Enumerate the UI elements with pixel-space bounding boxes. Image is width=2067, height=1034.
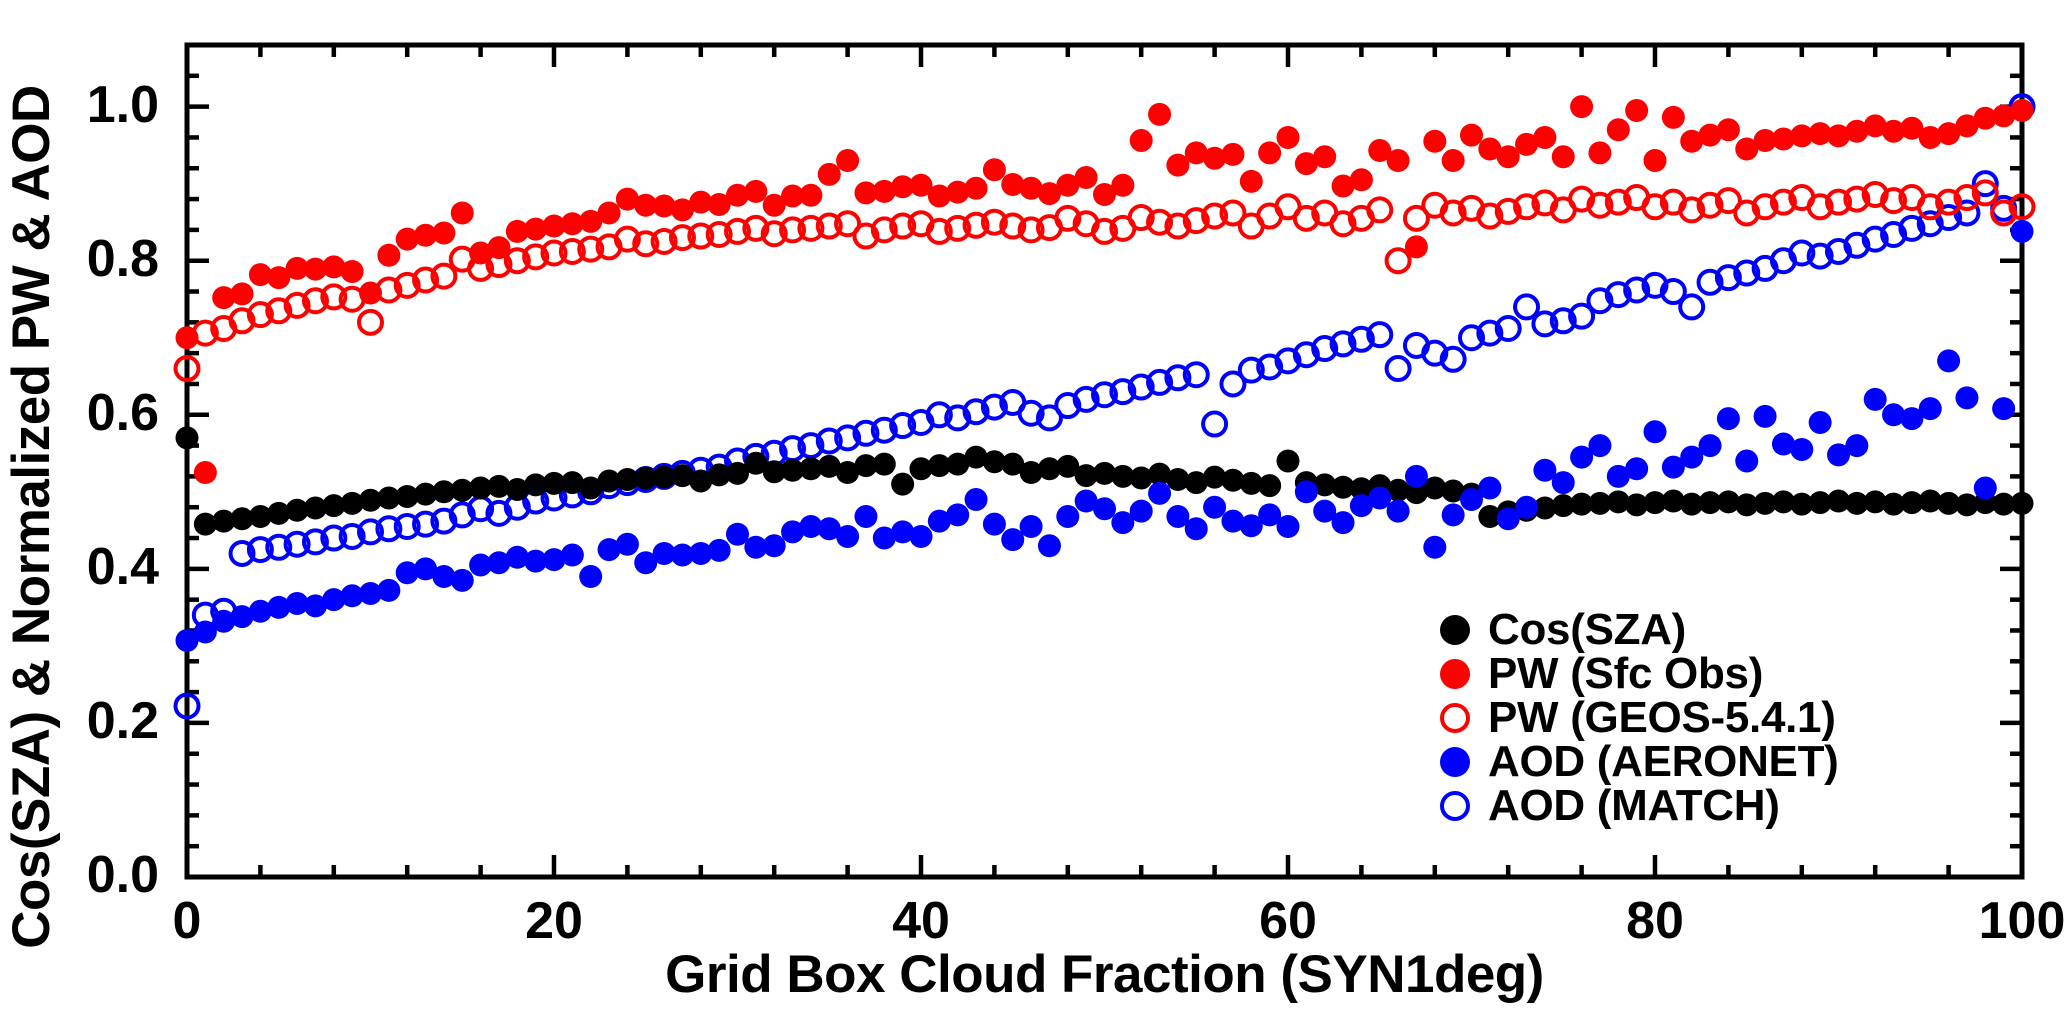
x-axis-tick-label: 20 xyxy=(525,891,583,951)
data-point xyxy=(1790,438,1813,461)
data-point xyxy=(1350,168,1373,191)
data-point xyxy=(1570,95,1593,118)
data-point xyxy=(965,177,988,200)
data-point xyxy=(1607,118,1630,141)
data-point xyxy=(1845,434,1868,457)
data-point xyxy=(1478,476,1501,499)
data-point xyxy=(744,180,767,203)
data-point xyxy=(1680,295,1703,318)
data-point xyxy=(1662,106,1685,129)
data-point xyxy=(598,201,621,224)
data-point xyxy=(799,184,822,207)
legend-label: PW (Sfc Obs) xyxy=(1488,652,1763,696)
data-point xyxy=(451,201,474,224)
data-point xyxy=(1203,496,1226,519)
data-point xyxy=(359,311,382,334)
data-point xyxy=(1185,517,1208,540)
data-point xyxy=(1699,434,1722,457)
data-point xyxy=(616,533,639,556)
y-axis-tick-label: 0.4 xyxy=(0,537,159,597)
data-point xyxy=(377,579,400,602)
data-point xyxy=(2011,99,2034,122)
data-point xyxy=(891,473,914,496)
data-point xyxy=(579,565,602,588)
data-point xyxy=(359,282,382,305)
data-point xyxy=(1992,397,2015,420)
y-axis-tick-label: 0.8 xyxy=(0,229,159,289)
data-point xyxy=(873,453,896,476)
y-axis-tick-label: 0.0 xyxy=(0,845,159,905)
data-point xyxy=(1588,141,1611,164)
open-circle-icon xyxy=(1432,788,1478,824)
legend-item: AOD (MATCH) xyxy=(1432,784,1839,828)
x-axis-tick-label: 100 xyxy=(1979,891,2066,951)
legend-item: PW (GEOS-5.4.1) xyxy=(1432,696,1839,740)
data-point xyxy=(1423,130,1446,153)
data-point xyxy=(1864,388,1887,411)
data-point xyxy=(1955,386,1978,409)
data-point xyxy=(1552,471,1575,494)
data-point xyxy=(763,534,786,557)
data-point xyxy=(1148,482,1171,505)
data-point xyxy=(854,505,877,528)
data-point xyxy=(1588,434,1611,457)
legend-item: PW (Sfc Obs) xyxy=(1432,652,1839,696)
y-axis-tick-label: 1.0 xyxy=(0,75,159,135)
data-point xyxy=(341,260,364,283)
data-point xyxy=(836,149,859,172)
data-point xyxy=(1515,295,1538,318)
data-point xyxy=(1717,118,1740,141)
data-point xyxy=(1625,99,1648,122)
data-point xyxy=(1405,235,1428,258)
data-point xyxy=(1111,174,1134,197)
data-point xyxy=(1130,500,1153,523)
figure-canvas: Cos(SZA) & Normalized PW & AOD Grid Box … xyxy=(0,0,2067,1034)
data-point xyxy=(1625,457,1648,480)
data-point xyxy=(1552,145,1575,168)
data-point xyxy=(1221,143,1244,166)
data-point xyxy=(708,539,731,562)
data-point xyxy=(1313,145,1336,168)
legend-label: AOD (AERONET) xyxy=(1488,740,1839,784)
data-point xyxy=(377,244,400,267)
data-point xyxy=(1533,126,1556,149)
data-point xyxy=(1038,534,1061,557)
data-point xyxy=(1644,149,1667,172)
filled-circle-icon xyxy=(1432,656,1478,692)
data-point xyxy=(1277,126,1300,149)
scatter-plot-area xyxy=(0,0,2067,1034)
data-point xyxy=(1130,129,1153,152)
data-point xyxy=(451,569,474,592)
x-axis-tick-label: 40 xyxy=(892,891,950,951)
data-point xyxy=(1258,141,1281,164)
data-point xyxy=(1809,411,1832,434)
data-point xyxy=(1460,124,1483,147)
data-point xyxy=(1277,515,1300,538)
data-point xyxy=(1148,103,1171,126)
data-point xyxy=(1295,480,1318,503)
data-point xyxy=(1332,511,1355,534)
chart-legend: Cos(SZA)PW (Sfc Obs)PW (GEOS-5.4.1)AOD (… xyxy=(1432,608,1839,828)
data-point xyxy=(2011,220,2034,243)
data-point xyxy=(1387,500,1410,523)
data-point xyxy=(1405,465,1428,488)
data-point xyxy=(561,543,584,566)
legend-item: AOD (AERONET) xyxy=(1432,740,1839,784)
data-point xyxy=(432,221,455,244)
data-point xyxy=(1937,349,1960,372)
data-point xyxy=(176,326,199,349)
data-point xyxy=(983,513,1006,536)
data-point xyxy=(1387,149,1410,172)
data-point xyxy=(231,282,254,305)
legend-item: Cos(SZA) xyxy=(1432,608,1839,652)
data-point xyxy=(176,426,199,449)
data-point xyxy=(946,503,969,526)
data-point xyxy=(1644,420,1667,443)
data-point xyxy=(1919,397,1942,420)
data-point xyxy=(1020,515,1043,538)
data-point xyxy=(1974,476,1997,499)
legend-label: Cos(SZA) xyxy=(1488,608,1686,652)
data-point xyxy=(487,236,510,259)
data-point xyxy=(983,158,1006,181)
data-point xyxy=(1754,405,1777,428)
data-point xyxy=(1735,450,1758,473)
data-point xyxy=(2011,492,2034,515)
data-point xyxy=(1387,249,1410,272)
data-point xyxy=(1093,497,1116,520)
y-axis-tick-label: 0.6 xyxy=(0,383,159,443)
filled-circle-icon xyxy=(1432,744,1478,780)
open-circle-icon xyxy=(1432,700,1478,736)
data-point xyxy=(1387,357,1410,380)
x-axis-tick-label: 60 xyxy=(1259,891,1317,951)
x-axis-title: Grid Box Cloud Fraction (SYN1deg) xyxy=(187,944,2022,1005)
data-point xyxy=(818,163,841,186)
data-point xyxy=(1277,450,1300,473)
filled-circle-icon xyxy=(1432,612,1478,648)
data-point xyxy=(1075,166,1098,189)
data-point xyxy=(1442,149,1465,172)
data-point xyxy=(1258,474,1281,497)
legend-label: PW (GEOS-5.4.1) xyxy=(1488,696,1836,740)
data-point xyxy=(836,525,859,548)
data-point xyxy=(910,525,933,548)
data-point xyxy=(965,488,988,511)
y-axis-tick-label: 0.2 xyxy=(0,691,159,751)
data-point xyxy=(1056,505,1079,528)
data-point xyxy=(1515,496,1538,519)
data-point xyxy=(1203,413,1226,436)
data-point xyxy=(1240,170,1263,193)
x-axis-tick-label: 0 xyxy=(173,891,202,951)
data-point xyxy=(194,461,217,484)
data-point xyxy=(1423,536,1446,559)
series-pw-sfc-obs xyxy=(176,95,2034,484)
data-point xyxy=(1442,503,1465,526)
x-axis-tick-label: 80 xyxy=(1626,891,1684,951)
legend-label: AOD (MATCH) xyxy=(1488,784,1780,828)
data-point xyxy=(1717,407,1740,430)
